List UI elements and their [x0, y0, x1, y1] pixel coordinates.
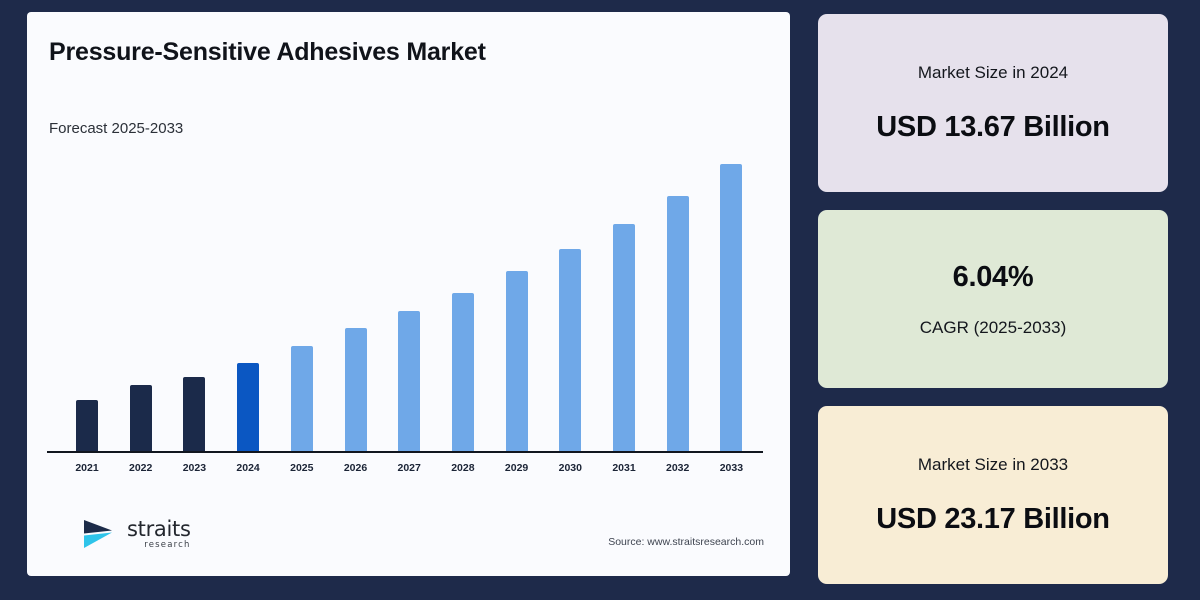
x-axis-tick-labels: 2021202220232024202520262027202820292030…	[58, 462, 778, 482]
bar-chart: 2021202220232024202520262027202820292030…	[27, 12, 790, 576]
x-tick-2033: 2033	[709, 462, 753, 474]
bar-2029	[506, 271, 528, 451]
x-tick-2030: 2030	[548, 462, 592, 474]
bar-2028	[452, 293, 474, 451]
straits-arrow-icon	[82, 517, 118, 551]
x-tick-2024: 2024	[226, 462, 270, 474]
stat-label: Market Size in 2024	[918, 63, 1068, 83]
x-axis-line	[47, 451, 763, 453]
bar-2025	[291, 346, 313, 451]
bar-2022	[130, 385, 152, 451]
infographic-root: Pressure-Sensitive Adhesives Market Fore…	[0, 0, 1200, 600]
x-tick-2022: 2022	[119, 462, 163, 474]
x-tick-2029: 2029	[495, 462, 539, 474]
brand-name: straits	[127, 519, 191, 540]
x-tick-2031: 2031	[602, 462, 646, 474]
x-tick-2023: 2023	[172, 462, 216, 474]
x-tick-2021: 2021	[65, 462, 109, 474]
x-tick-2026: 2026	[334, 462, 378, 474]
brand-logo-text: straits research	[127, 519, 191, 550]
bar-2024	[237, 363, 259, 451]
source-note: Source: www.straitsresearch.com	[608, 536, 764, 548]
x-tick-2027: 2027	[387, 462, 431, 474]
bars-container	[58, 12, 778, 452]
bar-2021	[76, 400, 98, 451]
stat-card-cagr: 6.04% CAGR (2025-2033)	[818, 210, 1168, 388]
stat-label: CAGR (2025-2033)	[920, 318, 1066, 338]
bar-2031	[613, 224, 635, 451]
bar-2033	[720, 164, 742, 451]
stat-value: USD 23.17 Billion	[876, 503, 1109, 536]
bar-2027	[398, 311, 420, 451]
x-tick-2028: 2028	[441, 462, 485, 474]
brand-tagline: research	[127, 541, 191, 550]
chart-card: Pressure-Sensitive Adhesives Market Fore…	[27, 12, 790, 576]
stat-card-market-size-2024: Market Size in 2024 USD 13.67 Billion	[818, 14, 1168, 192]
bar-2030	[559, 249, 581, 451]
bar-2023	[183, 377, 205, 451]
bar-2026	[345, 328, 367, 451]
stat-value: USD 13.67 Billion	[876, 111, 1109, 144]
x-tick-2025: 2025	[280, 462, 324, 474]
stat-label: Market Size in 2033	[918, 455, 1068, 475]
x-tick-2032: 2032	[656, 462, 700, 474]
stat-card-market-size-2033: Market Size in 2033 USD 23.17 Billion	[818, 406, 1168, 584]
stat-value: 6.04%	[953, 261, 1034, 294]
brand-logo: straits research	[82, 517, 191, 551]
bar-2032	[667, 196, 689, 451]
stat-cards-panel: Market Size in 2024 USD 13.67 Billion 6.…	[818, 14, 1168, 586]
